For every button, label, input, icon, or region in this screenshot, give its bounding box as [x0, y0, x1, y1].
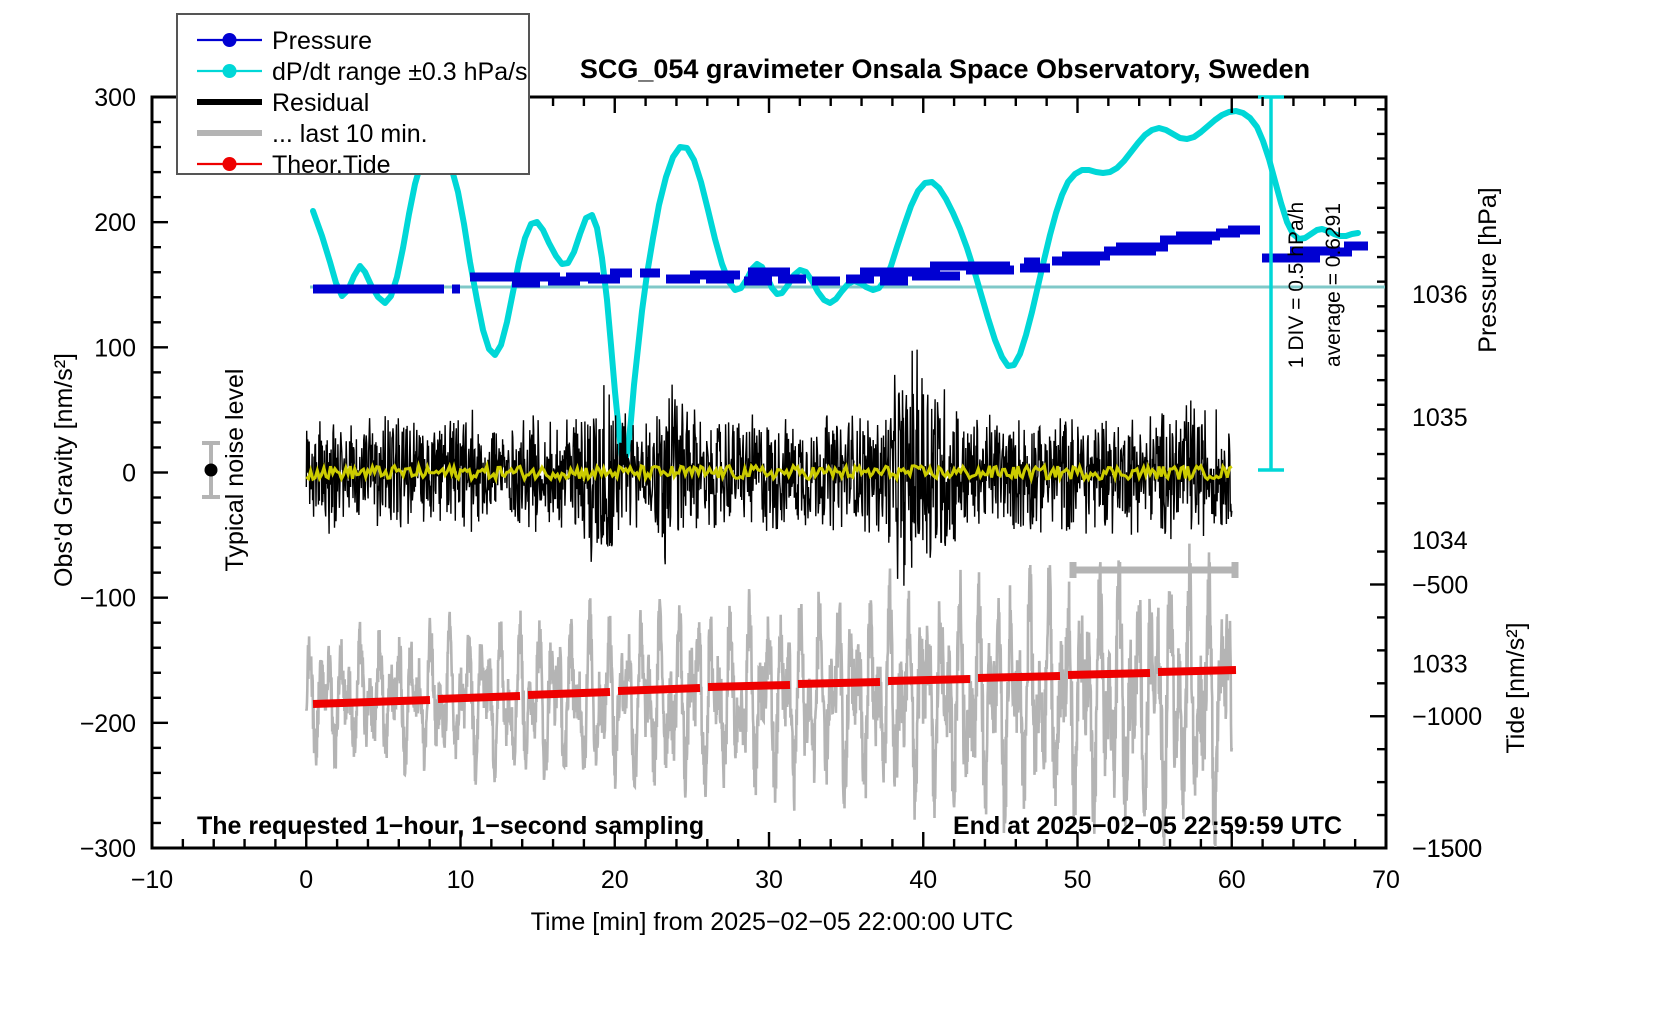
legend-label: Pressure [272, 27, 372, 55]
x-tick-label: 70 [1372, 866, 1400, 894]
legend-label: ... last 10 min. [272, 120, 428, 148]
y-tick-label-left: −300 [80, 835, 136, 863]
y-axis-title-right-tide: Tide [nm/s²] [1502, 622, 1530, 753]
figure-canvas: Typical noise level 1 DIV = 0.5 hPa/h av… [0, 0, 1676, 1020]
x-tick-label: 20 [601, 866, 629, 894]
y-tick-label-pressure: 1035 [1412, 404, 1468, 432]
footer-right-annotation: End at 2025−02−05 22:59:59 UTC [953, 812, 1342, 840]
legend-marker [223, 157, 237, 171]
x-tick-label: 30 [755, 866, 783, 894]
gravimeter-chart: Typical noise level 1 DIV = 0.5 hPa/h av… [0, 0, 1676, 1020]
typical-noise-label: Typical noise level [221, 369, 249, 572]
y-tick-label-tide: −1500 [1412, 835, 1482, 863]
y-tick-label-tide: −500 [1412, 571, 1468, 599]
legend-marker [223, 33, 237, 47]
x-tick-label: 40 [909, 866, 937, 894]
y-tick-label-pressure: 1033 [1412, 650, 1468, 678]
legend: PressuredP/dt range ±0.3 hPa/sResidual..… [177, 14, 529, 179]
y-tick-label-left: 0 [122, 460, 136, 488]
page-title: SCG_054 gravimeter Onsala Space Observat… [580, 54, 1310, 84]
x-tick-label: 50 [1064, 866, 1092, 894]
x-axis-title: Time [min] from 2025−02−05 22:00:00 UTC [531, 908, 1014, 936]
legend-label: Residual [272, 89, 369, 117]
footer-left-annotation: The requested 1−hour, 1−second sampling [197, 812, 704, 840]
legend-label: Theor.Tide [272, 151, 391, 179]
y-tick-label-pressure: 1034 [1412, 527, 1468, 555]
x-tick-label: 0 [299, 866, 313, 894]
legend-marker [223, 64, 237, 78]
y-axis-title-left: Obs'd Gravity [nm/s²] [50, 353, 78, 587]
y-tick-label-tide: −1000 [1412, 703, 1482, 731]
x-tick-label: 10 [447, 866, 475, 894]
y-tick-label-left: 300 [94, 84, 136, 112]
y-tick-label-left: −200 [80, 710, 136, 738]
legend-label: dP/dt range ±0.3 hPa/s [272, 58, 528, 86]
y-tick-label-pressure: 1036 [1412, 281, 1468, 309]
div-scale-label: 1 DIV = 0.5 hPa/h [1285, 202, 1308, 368]
y-tick-label-left: −100 [80, 585, 136, 613]
x-tick-label: −10 [131, 866, 173, 894]
average-label: average = 0.6291 [1322, 203, 1345, 367]
y-tick-label-left: 200 [94, 209, 136, 237]
y-tick-label-left: 100 [94, 334, 136, 362]
x-tick-label: 60 [1218, 866, 1246, 894]
y-axis-title-right-pressure: Pressure [hPa] [1474, 187, 1502, 352]
